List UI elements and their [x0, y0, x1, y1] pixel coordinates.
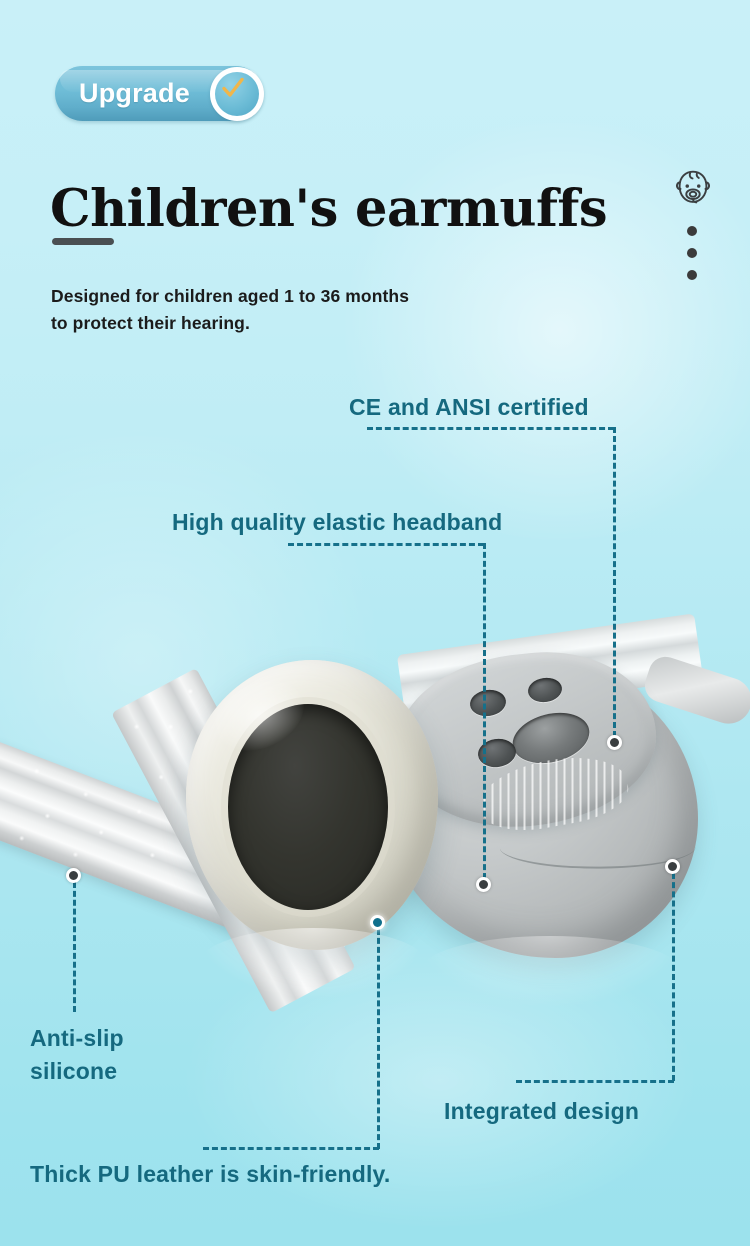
callout-marker-thick-pu[interactable]	[370, 915, 385, 930]
callout-marker-headband[interactable]	[476, 877, 491, 892]
page-title: Children's earmuffs	[50, 178, 607, 240]
title-underline-rule	[52, 238, 114, 245]
upgrade-label: Upgrade	[79, 78, 190, 108]
product-photo	[0, 610, 750, 1030]
callout-line-integrated-vertical	[672, 873, 675, 1081]
dot-2	[687, 248, 697, 258]
callout-line-anti-slip	[73, 882, 76, 1012]
more-vertical-dots-icon[interactable]	[687, 226, 699, 286]
check-circle-icon	[210, 67, 264, 121]
check-mark-icon	[221, 76, 245, 100]
callout-label-ce-ansi: CE and ANSI certified	[349, 394, 589, 421]
callout-line-integrated-horizontal	[516, 1080, 674, 1083]
callout-line-ce-vertical	[613, 427, 616, 737]
callout-line-thick-pu-horizontal	[203, 1147, 379, 1150]
callout-marker-ce-ansi[interactable]	[607, 735, 622, 750]
upgrade-badge[interactable]: Upgrade	[55, 66, 263, 121]
callout-line-ce-horizontal	[367, 427, 614, 430]
page-subtitle: Designed for children aged 1 to 36 month…	[51, 283, 409, 337]
dot-3	[687, 270, 697, 280]
callout-line-thick-pu-vertical	[377, 929, 380, 1149]
callout-marker-integrated-design[interactable]	[665, 859, 680, 874]
infographic-page: Upgrade Children's earmuffs Designed for…	[0, 0, 750, 1246]
callout-line-headband-horizontal	[288, 543, 484, 546]
callout-label-anti-slip-line2: silicone	[30, 1055, 124, 1088]
callout-marker-anti-slip[interactable]	[66, 868, 81, 883]
dot-1	[687, 226, 697, 236]
callout-line-headband-vertical	[483, 543, 486, 879]
callout-label-integrated-design: Integrated design	[444, 1098, 639, 1125]
subtitle-line-2: to protect their hearing.	[51, 310, 409, 337]
subtitle-line-1: Designed for children aged 1 to 36 month…	[51, 283, 409, 310]
callout-label-anti-slip-line1: Anti-slip	[30, 1022, 124, 1055]
callout-label-thick-pu: Thick PU leather is skin-friendly.	[30, 1161, 390, 1188]
baby-face-icon	[670, 165, 716, 211]
callout-label-anti-slip: Anti-slip silicone	[30, 1022, 124, 1088]
callout-label-headband: High quality elastic headband	[172, 509, 502, 536]
